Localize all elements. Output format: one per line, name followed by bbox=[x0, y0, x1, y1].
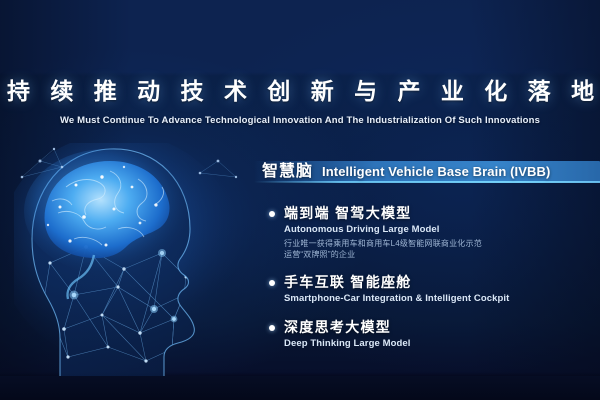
bottom-letterbox-bar bbox=[0, 376, 600, 400]
feature-title-english: Smartphone-Car Integration & Intelligent… bbox=[284, 293, 600, 305]
feature-title-chinese: 深度思考大模型 bbox=[284, 319, 600, 336]
bullet-dot-icon bbox=[269, 325, 275, 331]
headline-block: 持 续 推 动 技 术 创 新 与 产 业 化 落 地 We Must Cont… bbox=[0, 76, 600, 127]
feature-list: 端到端 智驾大模型 Autonomous Driving Large Model… bbox=[262, 205, 600, 350]
feature-title-chinese: 端到端 智驾大模型 bbox=[284, 205, 600, 222]
panel-heading-english: Intelligent Vehicle Base Brain (IVBB) bbox=[322, 164, 550, 179]
feature-title-english: Autonomous Driving Large Model bbox=[284, 224, 600, 236]
bullet-dot-icon bbox=[269, 280, 275, 286]
slide-canvas: 持 续 推 动 技 术 创 新 与 产 业 化 落 地 We Must Cont… bbox=[0, 0, 600, 400]
list-item: 深度思考大模型 Deep Thinking Large Model bbox=[262, 319, 600, 350]
headline-chinese: 持 续 推 动 技 术 创 新 与 产 业 化 落 地 bbox=[0, 76, 600, 106]
bullet-dot-icon bbox=[269, 211, 275, 217]
feature-title-chinese: 手车互联 智能座舱 bbox=[284, 274, 600, 291]
panel-heading-chinese: 智慧脑 bbox=[262, 157, 313, 181]
feature-title-english: Deep Thinking Large Model bbox=[284, 338, 600, 350]
ai-brain-head-illustration bbox=[14, 143, 264, 388]
list-item: 手车互联 智能座舱 Smartphone-Car Integration & I… bbox=[262, 274, 600, 305]
feature-note: 行业唯一获得乘用车和商用车L4级智能网联商业化示范运营“双牌照”的企业 bbox=[284, 239, 484, 260]
panel-heading: 智慧脑 Intelligent Vehicle Base Brain (IVBB… bbox=[262, 157, 600, 183]
headline-english: We Must Continue To Advance Technologica… bbox=[0, 115, 600, 127]
ivbb-panel: 智慧脑 Intelligent Vehicle Base Brain (IVBB… bbox=[262, 157, 600, 350]
list-item: 端到端 智驾大模型 Autonomous Driving Large Model… bbox=[262, 205, 600, 260]
